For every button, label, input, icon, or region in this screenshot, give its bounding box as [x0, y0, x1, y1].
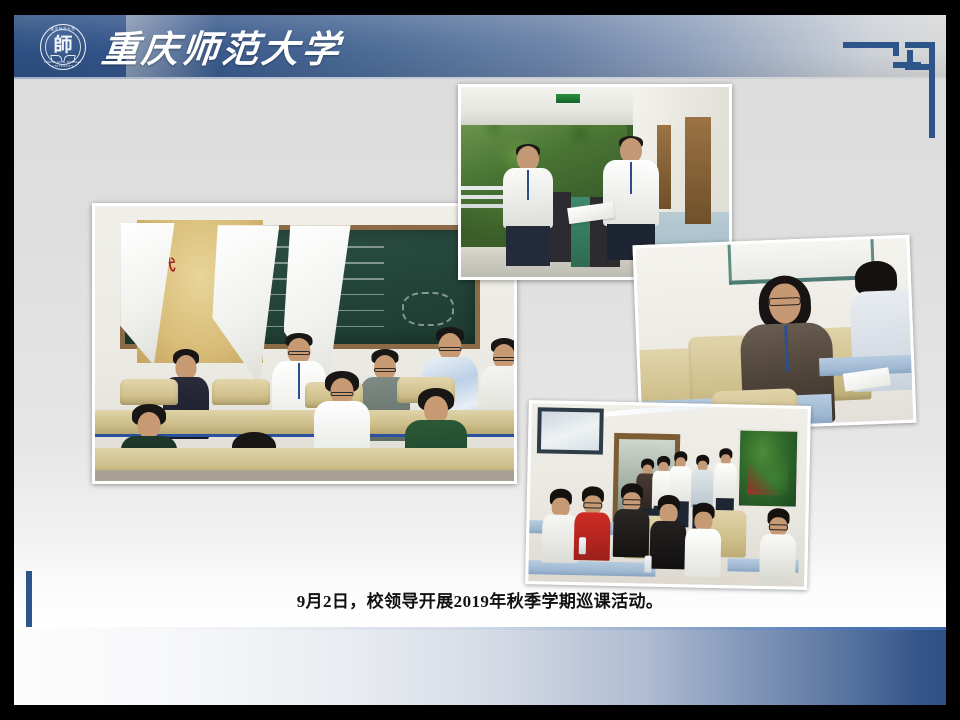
presentation-slide: 重庆师范大学 師 CHONGQING NORMAL UNIVERSITY 重庆师…	[14, 15, 946, 705]
university-name-title: 重庆师范大学	[99, 21, 344, 71]
university-seal-logo: 重庆师范大学 師 CHONGQING NORMAL UNIVERSITY	[40, 24, 86, 70]
slide-caption: 9月2日，校领导开展2019年秋季学期巡课活动。	[14, 587, 946, 612]
slide-footer-band	[14, 630, 946, 705]
photo-large-classroom: 新时代 风貌	[92, 203, 517, 484]
exit-sign-icon	[555, 93, 581, 104]
seal-rim-text-bottom: CHONGQING NORMAL UNIVERSITY	[40, 60, 86, 68]
photo-back-of-room-observers	[525, 400, 811, 590]
corner-ornament-top-right-icon	[843, 42, 935, 138]
seal-rim-text-top: 重庆师范大学	[40, 27, 86, 32]
wall-artwork	[737, 429, 799, 509]
classroom-window	[536, 407, 603, 455]
seal-center-glyph: 師	[40, 36, 86, 55]
header-divider-rule	[14, 77, 946, 79]
screenshot-viewport: 重庆师范大学 師 CHONGQING NORMAL UNIVERSITY 重庆师…	[0, 0, 960, 720]
